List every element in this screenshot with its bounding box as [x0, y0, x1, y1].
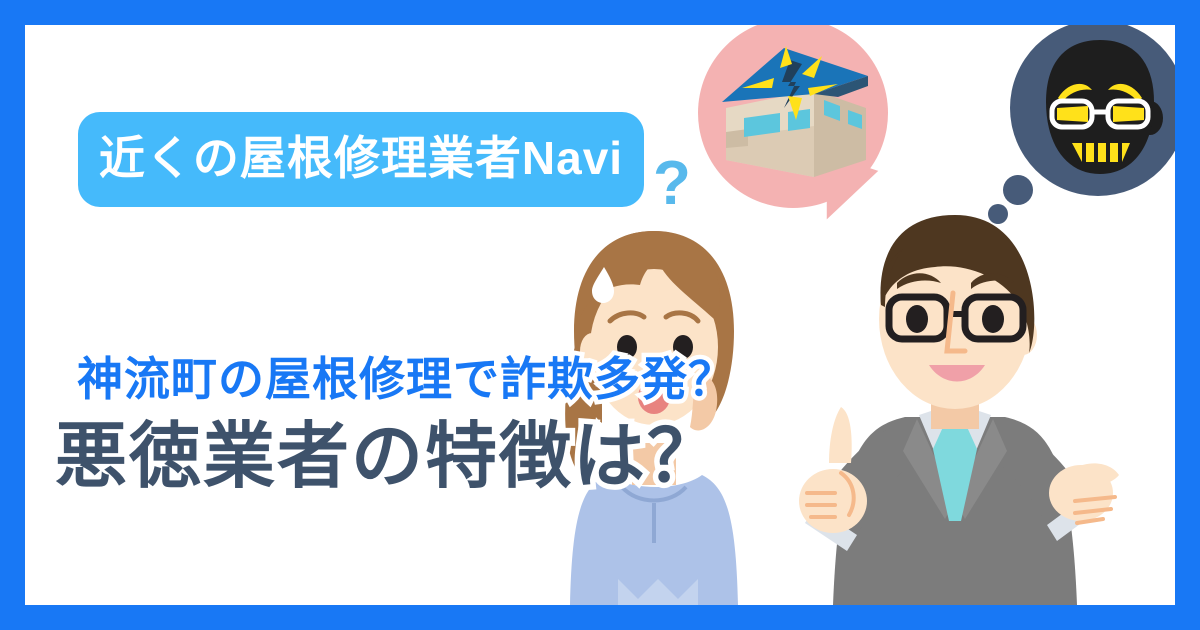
question-mark-icon: ? [653, 153, 691, 215]
pointing-businessman-icon [785, 201, 1125, 605]
thought-bubble [988, 25, 1175, 230]
headline-block: 神流町の屋根修理で詐欺多発？ 悪徳業者の特徴は？ [55, 355, 835, 496]
villain-face-icon [1032, 38, 1168, 180]
site-name-label: 近くの屋根修理業者Navi [99, 135, 623, 181]
thumbnail-card: 近くの屋根修理業者Navi ? 神流町の屋根修理で詐欺多発？ 悪徳業者の特徴は？ [0, 0, 1200, 630]
headline-line-2: 悪徳業者の特徴は？ [55, 419, 835, 497]
damaged-house-icon [718, 42, 870, 184]
thumbnail-canvas: 近くの屋根修理業者Navi ? 神流町の屋根修理で詐欺多発？ 悪徳業者の特徴は？ [25, 25, 1175, 605]
headline-line-1: 神流町の屋根修理で詐欺多発？ [77, 355, 835, 405]
site-name-badge[interactable]: 近くの屋根修理業者Navi [78, 112, 644, 207]
speech-bubble [698, 25, 888, 208]
